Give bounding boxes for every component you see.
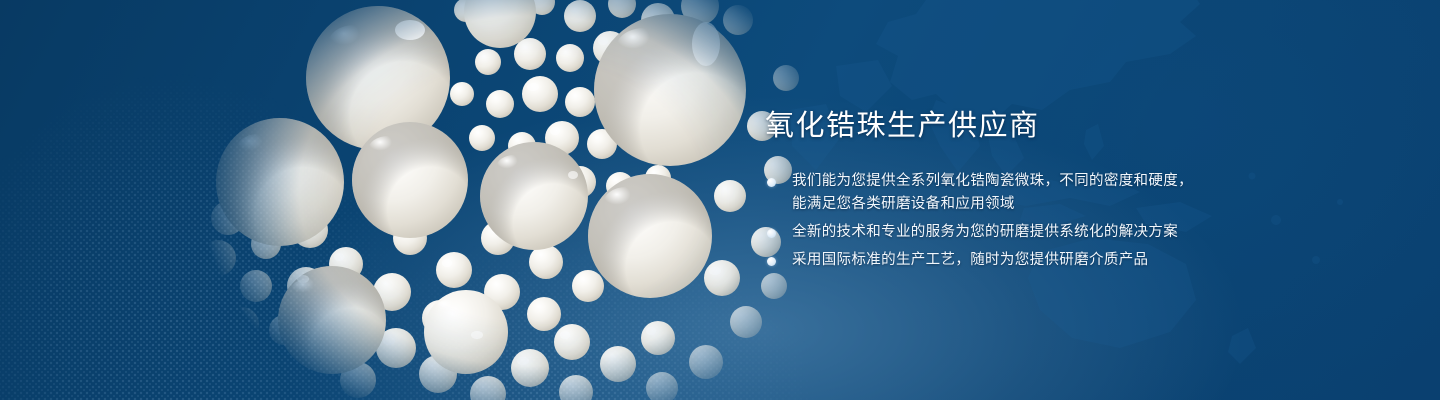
feature-bullet-1: 我们能为您提供全系列氧化锆陶瓷微珠，不同的密度和硬度， 能满足您各类研磨设备和应…: [765, 170, 1265, 216]
zirconia-beads-photo: [110, 0, 810, 400]
feature-bullet-list: 我们能为您提供全系列氧化锆陶瓷微珠，不同的密度和硬度， 能满足您各类研磨设备和应…: [765, 170, 1265, 272]
bullet-dot-icon: [767, 178, 776, 187]
banner-headline: 氧化锆珠生产供应商: [765, 108, 1265, 144]
banner-text-panel: 氧化锆珠生产供应商 我们能为您提供全系列氧化锆陶瓷微珠，不同的密度和硬度， 能满…: [765, 108, 1265, 277]
feature-bullet-3-line1: 采用国际标准的生产工艺，随时为您提供研磨介质产品: [792, 249, 1265, 272]
feature-bullet-3: 采用国际标准的生产工艺，随时为您提供研磨介质产品: [765, 249, 1265, 272]
feature-bullet-2: 全新的技术和专业的服务为您的研磨提供系统化的解决方案: [765, 221, 1265, 244]
feature-bullet-1-line2: 能满足您各类研磨设备和应用领域: [792, 193, 1265, 216]
feature-bullet-2-line1: 全新的技术和专业的服务为您的研磨提供系统化的解决方案: [792, 221, 1265, 244]
bullet-dot-icon: [767, 229, 776, 238]
feature-bullet-1-line1: 我们能为您提供全系列氧化锆陶瓷微珠，不同的密度和硬度，: [792, 170, 1265, 193]
hero-banner: 氧化锆珠生产供应商 我们能为您提供全系列氧化锆陶瓷微珠，不同的密度和硬度， 能满…: [0, 0, 1440, 400]
bullet-dot-icon: [767, 257, 776, 266]
